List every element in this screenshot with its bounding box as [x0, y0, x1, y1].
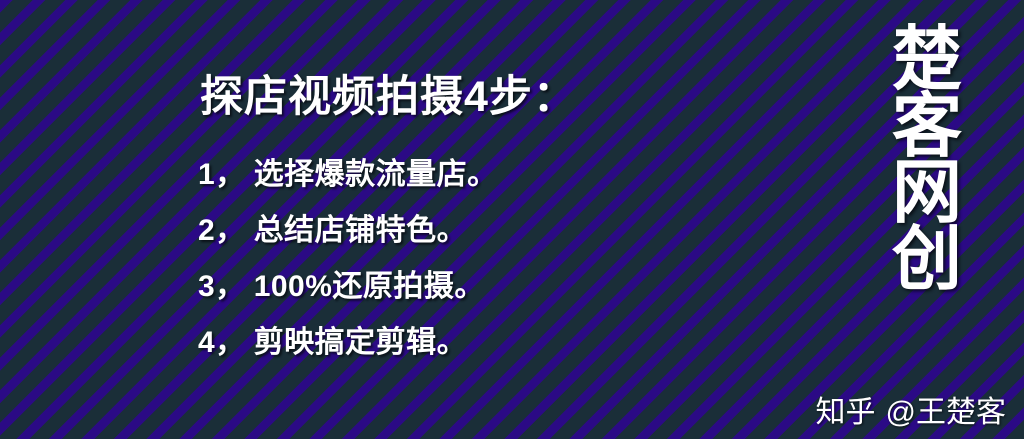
list-item-index: 4，: [198, 320, 246, 366]
page-title: 探店视频拍摄4步：: [200, 62, 577, 124]
list-item: 1，选择爆款流量店。: [198, 152, 498, 208]
list-item-label: 100%还原拍摄。: [254, 270, 485, 303]
brand-char: 楚: [884, 26, 970, 93]
watermark: 知乎@王楚客: [816, 387, 1006, 431]
list-item: 2，总结店铺特色。: [198, 208, 498, 264]
watermark-site: 知乎: [816, 396, 876, 429]
list-item-index: 3，: [198, 264, 246, 310]
list-item-index: 1，: [198, 152, 246, 198]
list-item-label: 选择爆款流量店。: [254, 158, 498, 191]
brand-char: 创: [884, 226, 970, 293]
brand-char: 网: [884, 159, 970, 226]
list-item-index: 2，: [198, 208, 246, 254]
list-item-label: 总结店铺特色。: [254, 214, 468, 247]
main-copy-block: 探店视频拍摄4步： 1，选择爆款流量店。 2，总结店铺特色。 3，100%还原拍…: [0, 0, 860, 439]
promo-banner: 探店视频拍摄4步： 1，选择爆款流量店。 2，总结店铺特色。 3，100%还原拍…: [0, 0, 1024, 439]
watermark-handle: @王楚客: [886, 396, 1006, 429]
brand-char: 客: [884, 93, 970, 160]
brand-vertical-logo: 楚 客 网 创: [884, 26, 970, 292]
list-item: 3，100%还原拍摄。: [198, 264, 498, 320]
list-item: 4，剪映搞定剪辑。: [198, 320, 498, 376]
list-item-label: 剪映搞定剪辑。: [254, 326, 468, 359]
steps-list: 1，选择爆款流量店。 2，总结店铺特色。 3，100%还原拍摄。 4，剪映搞定剪…: [198, 152, 498, 376]
